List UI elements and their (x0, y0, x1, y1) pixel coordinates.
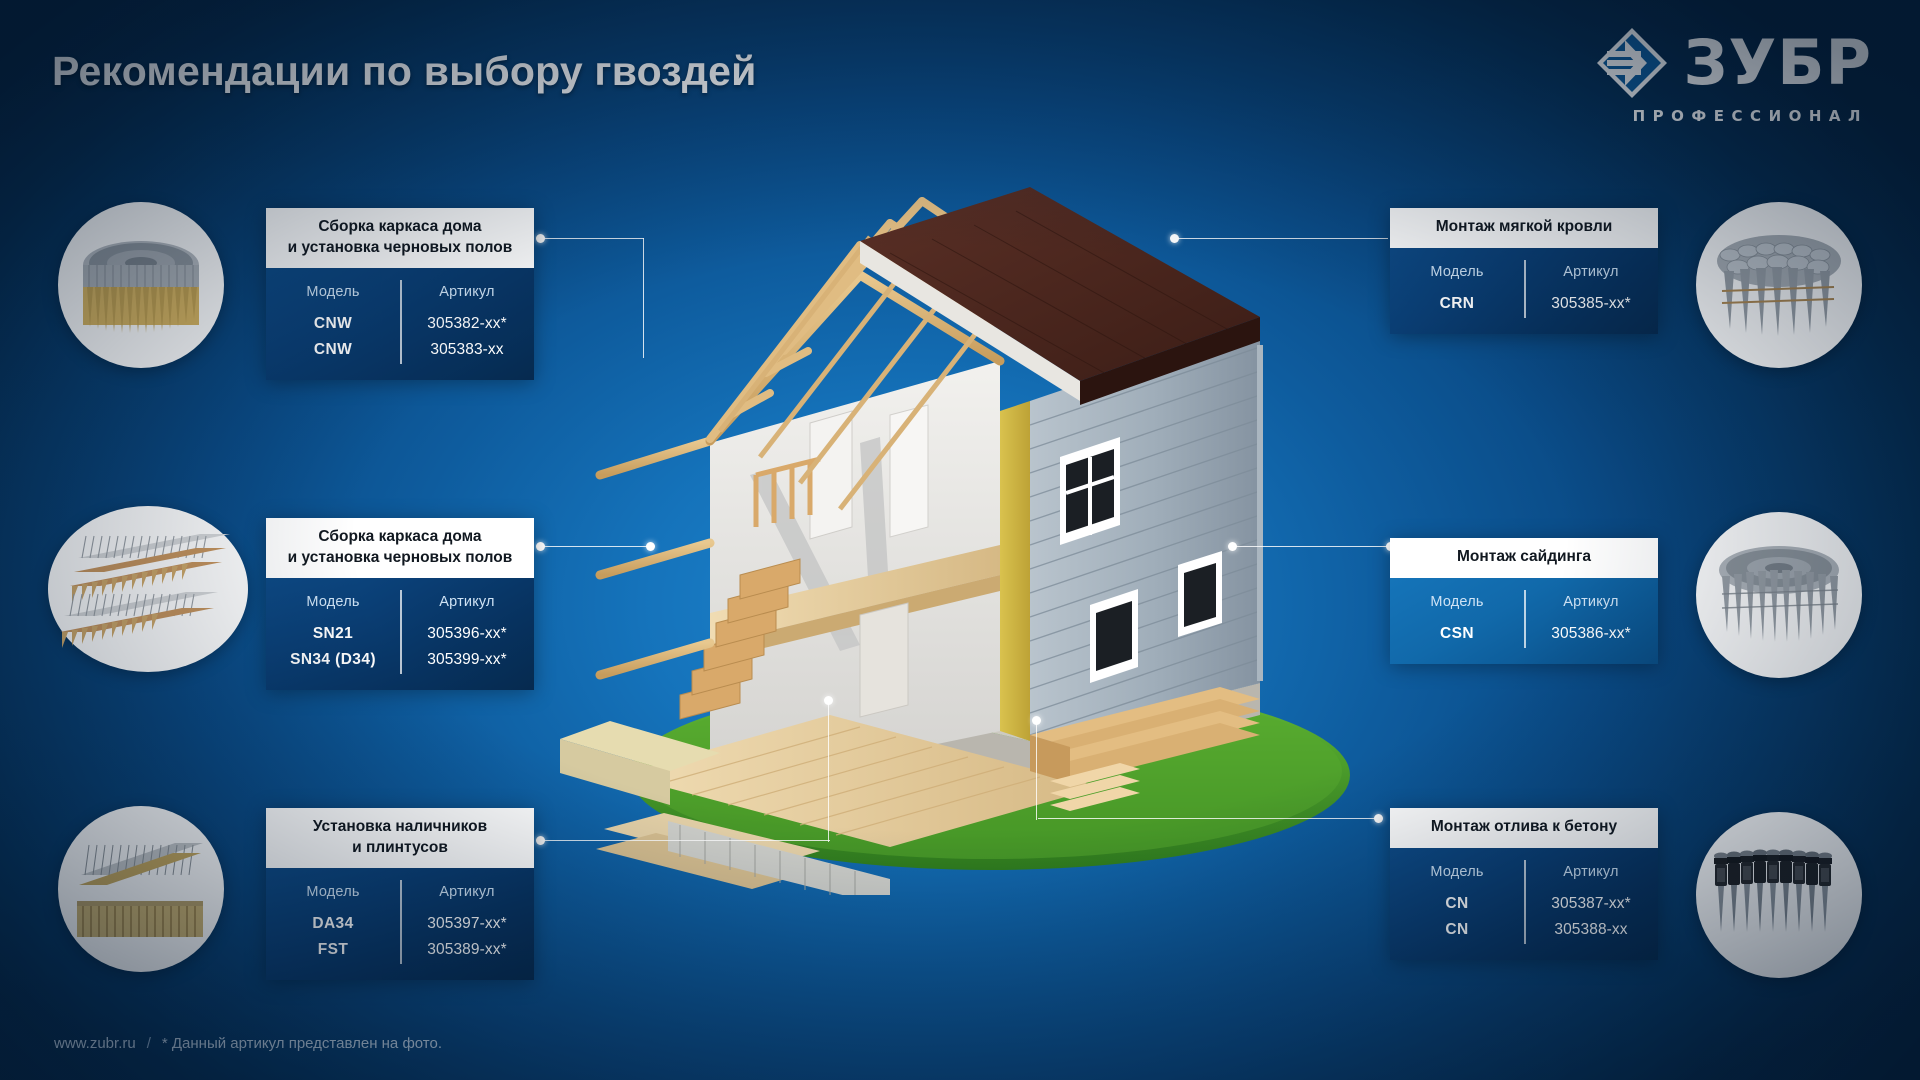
product-image-siding-coil-nails (1696, 512, 1862, 678)
column-divider (1524, 590, 1526, 648)
cell-model: FST (266, 937, 400, 963)
card-title-line1: Монтаж отлива к бетону (1400, 817, 1648, 838)
cell-model: SN34 (D34) (266, 647, 400, 673)
cell-model: CSN (1390, 621, 1524, 647)
th-model: Модель (266, 881, 400, 911)
th-article: Артикул (400, 881, 534, 911)
connector-line-frame-strip (540, 546, 650, 547)
th-article: Артикул (1524, 861, 1658, 891)
logo-wordmark: ЗУБР (1683, 34, 1872, 93)
card-title-line1: Установка наличников (276, 817, 524, 838)
column-divider (1524, 860, 1526, 944)
card-body: Модель Артикул DA34 305397-xx* FST 30538… (266, 868, 534, 980)
page-title: Рекомендации по выбору гвоздей (52, 48, 756, 95)
product-image-finish-brad-nails-strip (58, 806, 224, 972)
infographic-canvas: Рекомендации по выбору гвоздей ЗУБР ПРОФ… (0, 0, 1920, 1080)
connector-dot-siding (1228, 542, 1237, 551)
card-title-line1: Сборка каркаса дома (276, 217, 524, 238)
card-title: Установка наличников и плинтусов (266, 808, 534, 868)
card-title: Монтаж отлива к бетону (1390, 808, 1658, 848)
hotspot-interior-trim (824, 696, 833, 705)
column-divider (400, 880, 402, 964)
column-divider (1524, 260, 1526, 318)
card-title-line2: и плинтусов (276, 838, 524, 859)
card-title-line2: и установка черновых полов (276, 238, 524, 259)
card-title: Сборка каркаса дома и установка черновых… (266, 518, 534, 578)
cell-article: 305396-xx* (400, 621, 534, 647)
connector-line-frame-coil (540, 238, 644, 239)
cell-article: 305399-xx* (400, 647, 534, 673)
card-body: Модель Артикул CN 305387-xx* CN 305388-x… (1390, 848, 1658, 960)
connector-dot-concrete (1032, 716, 1041, 725)
column-divider (400, 590, 402, 674)
cell-model: CN (1390, 891, 1524, 917)
cell-model: CN (1390, 917, 1524, 943)
logo-tagline: ПРОФЕССИОНАЛ (1633, 107, 1868, 125)
card-siding-mount[interactable]: Монтаж сайдинга Модель Артикул CSN 30538… (1390, 538, 1658, 664)
card-soft-roofing[interactable]: Монтаж мягкой кровли Модель Артикул CRN … (1390, 208, 1658, 334)
cell-model: SN21 (266, 621, 400, 647)
product-image-strip-nails-paper-collated (48, 506, 248, 672)
th-model: Модель (1390, 861, 1524, 891)
footer-separator: / (147, 1035, 151, 1052)
hotspot-wall-frame (646, 542, 655, 551)
cell-article: 305387-xx* (1524, 891, 1658, 917)
cell-article: 305386-xx* (1524, 621, 1658, 647)
cell-article: 305383-xx (400, 337, 534, 363)
connector-line-frame-coil-v (643, 238, 644, 358)
cell-article: 305397-xx* (400, 911, 534, 937)
card-title: Монтаж мягкой кровли (1390, 208, 1658, 248)
th-article: Артикул (1524, 591, 1658, 621)
card-title-line1: Сборка каркаса дома (276, 527, 524, 548)
th-model: Модель (266, 591, 400, 621)
card-title-line1: Монтаж сайдинга (1400, 547, 1648, 568)
product-image-concrete-pins-black-collar (1696, 812, 1862, 978)
cell-model: CRN (1390, 291, 1524, 317)
footer: www.zubr.ru / * Данный артикул представл… (54, 1035, 442, 1052)
hotspot-concrete-base (1374, 814, 1383, 823)
th-model: Модель (266, 281, 400, 311)
cell-article: 305389-xx* (400, 937, 534, 963)
connector-dot-frame-coil (536, 234, 545, 243)
cutaway-house-illustration (560, 175, 1370, 895)
connector-line-roof-soft (1178, 238, 1388, 239)
connector-line-trim (540, 840, 830, 841)
connector-dot-trim (536, 836, 545, 845)
card-title: Монтаж сайдинга (1390, 538, 1658, 578)
th-article: Артикул (400, 591, 534, 621)
cell-model: DA34 (266, 911, 400, 937)
cell-article: 305388-xx (1524, 917, 1658, 943)
cell-model: CNW (266, 337, 400, 363)
product-image-roofing-coil-nails (1696, 202, 1862, 368)
card-body: Модель Артикул CNW 305382-xx* CNW 305383… (266, 268, 534, 380)
th-article: Артикул (1524, 261, 1658, 291)
card-frame-assembly-strip[interactable]: Сборка каркаса дома и установка черновых… (266, 518, 534, 690)
footer-note: * Данный артикул представлен на фото. (162, 1035, 442, 1052)
cell-article: 305382-xx* (400, 311, 534, 337)
th-article: Артикул (400, 281, 534, 311)
product-image-coil-nails-wire-collated (58, 202, 224, 368)
th-model: Модель (1390, 591, 1524, 621)
connector-line-siding (1232, 546, 1390, 547)
footer-site-link[interactable]: www.zubr.ru (54, 1035, 136, 1052)
th-model: Модель (1390, 261, 1524, 291)
zubr-diamond-logo-icon (1595, 26, 1669, 100)
card-title-line1: Монтаж мягкой кровли (1400, 217, 1648, 238)
connector-line-concrete (1038, 818, 1378, 819)
card-title-line2: и установка черновых полов (276, 548, 524, 569)
cell-article: 305385-xx* (1524, 291, 1658, 317)
card-title: Сборка каркаса дома и установка черновых… (266, 208, 534, 268)
cell-model: CNW (266, 311, 400, 337)
card-frame-assembly-coil[interactable]: Сборка каркаса дома и установка черновых… (266, 208, 534, 380)
card-body: Модель Артикул CSN 305386-xx* (1390, 578, 1658, 664)
card-drip-to-concrete[interactable]: Монтаж отлива к бетону Модель Артикул CN… (1390, 808, 1658, 960)
connector-line-trim-v (828, 700, 829, 842)
brand-logo: ЗУБР ПРОФЕССИОНАЛ (1595, 26, 1872, 125)
card-trim-and-baseboard[interactable]: Установка наличников и плинтусов Модель … (266, 808, 534, 980)
card-body: Модель Артикул CRN 305385-xx* (1390, 248, 1658, 334)
column-divider (400, 280, 402, 364)
connector-dot-frame-strip (536, 542, 545, 551)
card-body: Модель Артикул SN21 305396-xx* SN34 (D34… (266, 578, 534, 690)
connector-line-concrete-v (1036, 720, 1037, 820)
